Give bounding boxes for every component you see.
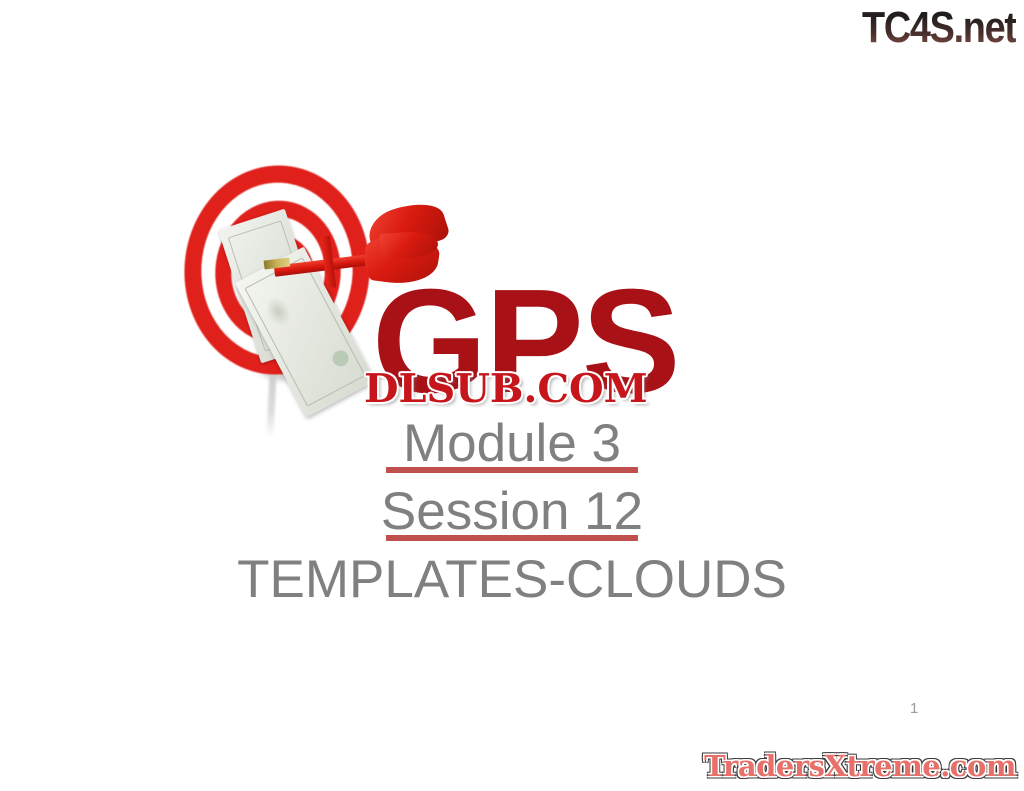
presentation-slide: TC4S.net GPS DLSUB.COM Module 3 Session …: [0, 0, 1024, 791]
divider-rule-1: [386, 467, 638, 473]
subtitle-module: Module 3: [0, 413, 1024, 475]
banknote-portrait-icon: [330, 348, 352, 370]
subtitle-session: Session 12: [0, 481, 1024, 543]
divider-rule-2: [386, 535, 638, 541]
page-number: 1: [910, 700, 918, 717]
brand-logo-tc4s: TC4S.net: [862, 4, 1016, 52]
footer-logo-tradersxtreme: TradersXtreme.com: [704, 749, 1016, 783]
subtitle-topic: TEMPLATES-CLOUDS: [0, 549, 1024, 611]
watermark-dlsub: DLSUB.COM: [364, 366, 648, 412]
subtitle-block: Module 3 Session 12 TEMPLATES-CLOUDS: [0, 413, 1024, 611]
